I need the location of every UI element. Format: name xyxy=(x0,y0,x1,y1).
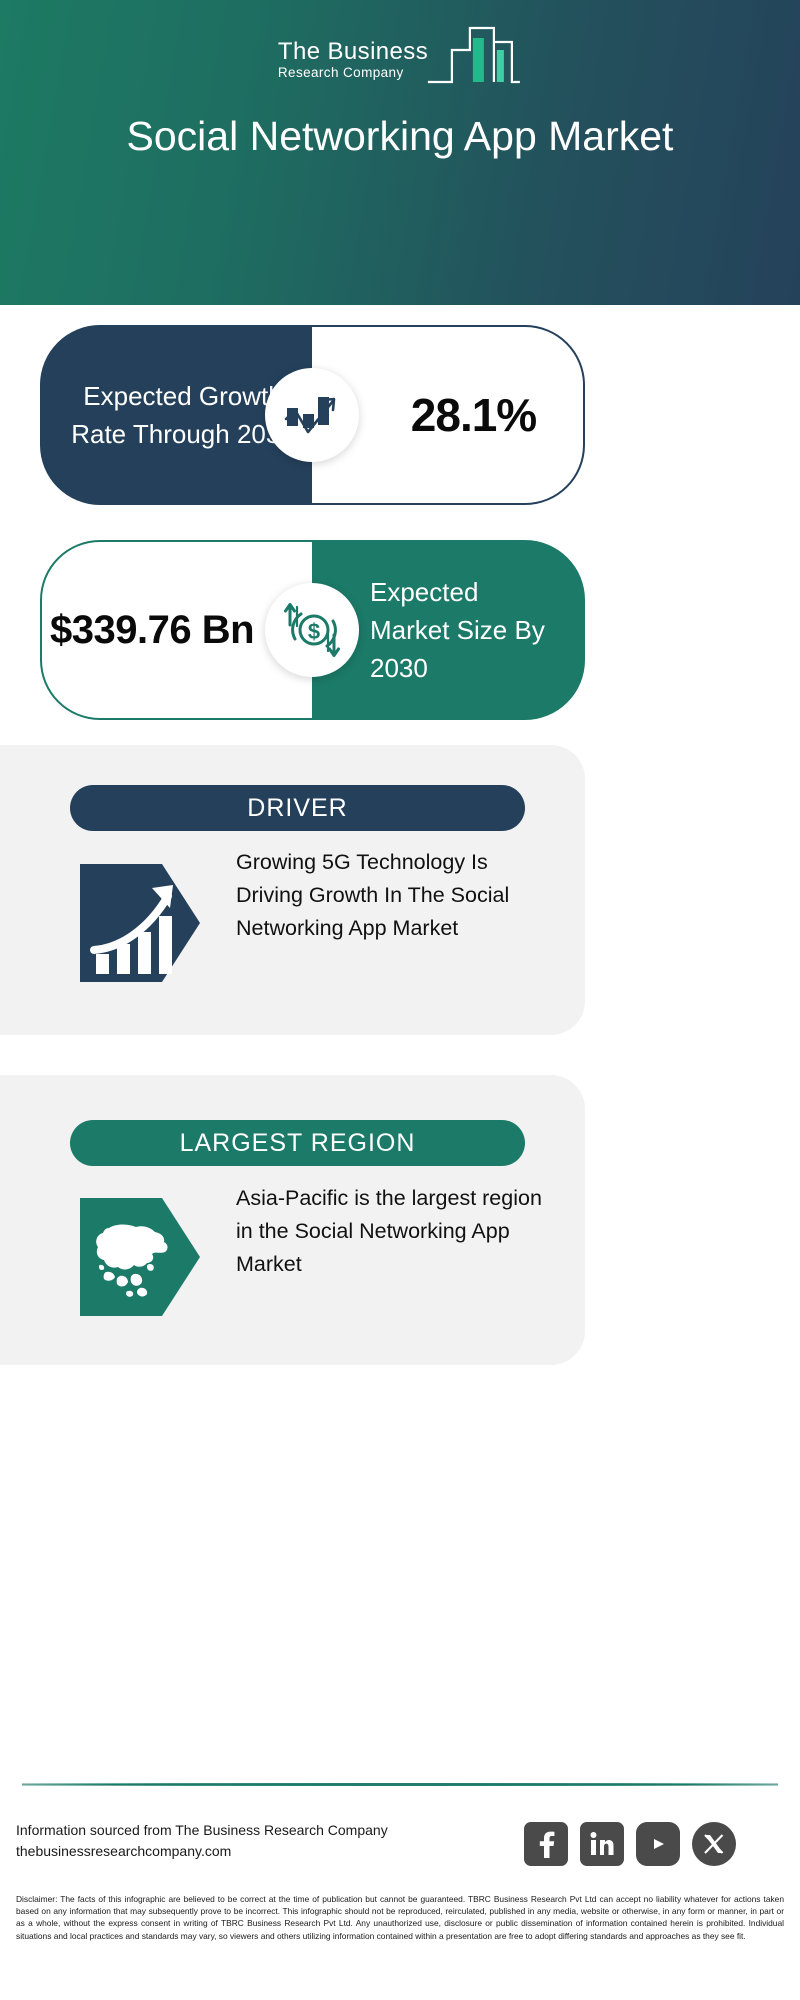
logo-line-2: Research Company xyxy=(278,65,404,81)
stat-value: 28.1% xyxy=(411,388,536,442)
facebook-icon[interactable] xyxy=(524,1822,568,1866)
header-banner: The Business Research Company Social Net… xyxy=(0,0,800,305)
linkedin-icon[interactable] xyxy=(580,1822,624,1866)
growth-chart-arrow-icon xyxy=(265,368,359,462)
stat-label: Expected Market Size By 2030 xyxy=(370,573,565,687)
logo-wordmark: The Business Research Company xyxy=(278,39,428,95)
social-links xyxy=(524,1822,736,1866)
page-title: Social Networking App Market xyxy=(80,110,720,162)
disclaimer-text: Disclaimer: The facts of this infographi… xyxy=(16,1893,784,1942)
largest-region-pill: LARGEST REGION xyxy=(70,1120,525,1166)
dollar-cycle-icon: $ xyxy=(265,583,359,677)
youtube-icon[interactable] xyxy=(636,1822,680,1866)
stat-card-market-size: $339.76 Bn Expected Market Size By 2030 … xyxy=(40,540,585,720)
stat-card-growth-rate: Expected Growth Rate Through 2030 28.1% xyxy=(40,325,585,505)
logo-line-1: The Business xyxy=(278,39,428,65)
driver-description: Growing 5G Technology Is Driving Growth … xyxy=(236,846,546,945)
company-logo: The Business Research Company xyxy=(278,22,522,95)
driver-pill: DRIVER xyxy=(70,785,525,831)
largest-region-pill-label: LARGEST REGION xyxy=(180,1129,416,1158)
svg-text:$: $ xyxy=(308,619,320,644)
largest-region-description: Asia-Pacific is the largest region in th… xyxy=(236,1182,546,1281)
source-line-2[interactable]: thebusinessresearchcompany.com xyxy=(16,1841,436,1862)
footer-divider xyxy=(22,1783,778,1786)
stat-value: $339.76 Bn xyxy=(50,607,254,653)
source-attribution: Information sourced from The Business Re… xyxy=(16,1820,436,1862)
bar-chart-logo-mark xyxy=(426,22,522,95)
asia-pacific-map-pentagon-icon xyxy=(76,1192,206,1322)
x-twitter-icon[interactable] xyxy=(692,1822,736,1866)
source-line-1: Information sourced from The Business Re… xyxy=(16,1820,436,1841)
growth-bars-arrow-pentagon-icon xyxy=(76,858,206,988)
driver-pill-label: DRIVER xyxy=(247,794,347,823)
